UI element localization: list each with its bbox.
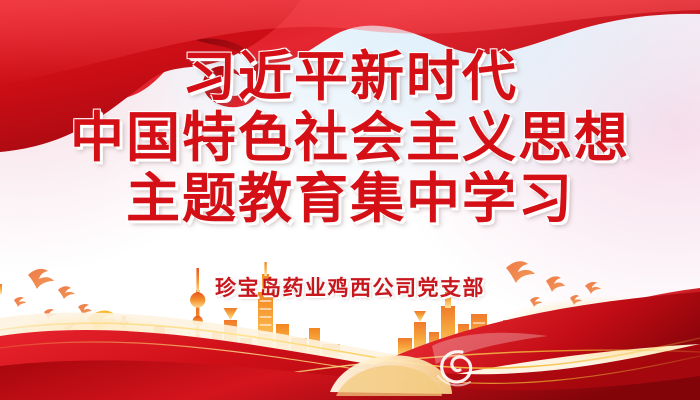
poster-title: 习近平新时代 中国特色社会主义思想 主题教育集中学习 xyxy=(0,50,700,227)
title-line-1: 习近平新时代 xyxy=(0,50,700,105)
poster-banner: 习近平新时代 中国特色社会主义思想 主题教育集中学习 珍宝岛药业鸡西公司党支部 xyxy=(0,0,700,400)
title-line-2: 中国特色社会主义思想 xyxy=(0,111,700,166)
title-line-3: 主题教育集中学习 xyxy=(0,172,700,227)
poster-subtitle: 珍宝岛药业鸡西公司党支部 xyxy=(0,272,700,302)
